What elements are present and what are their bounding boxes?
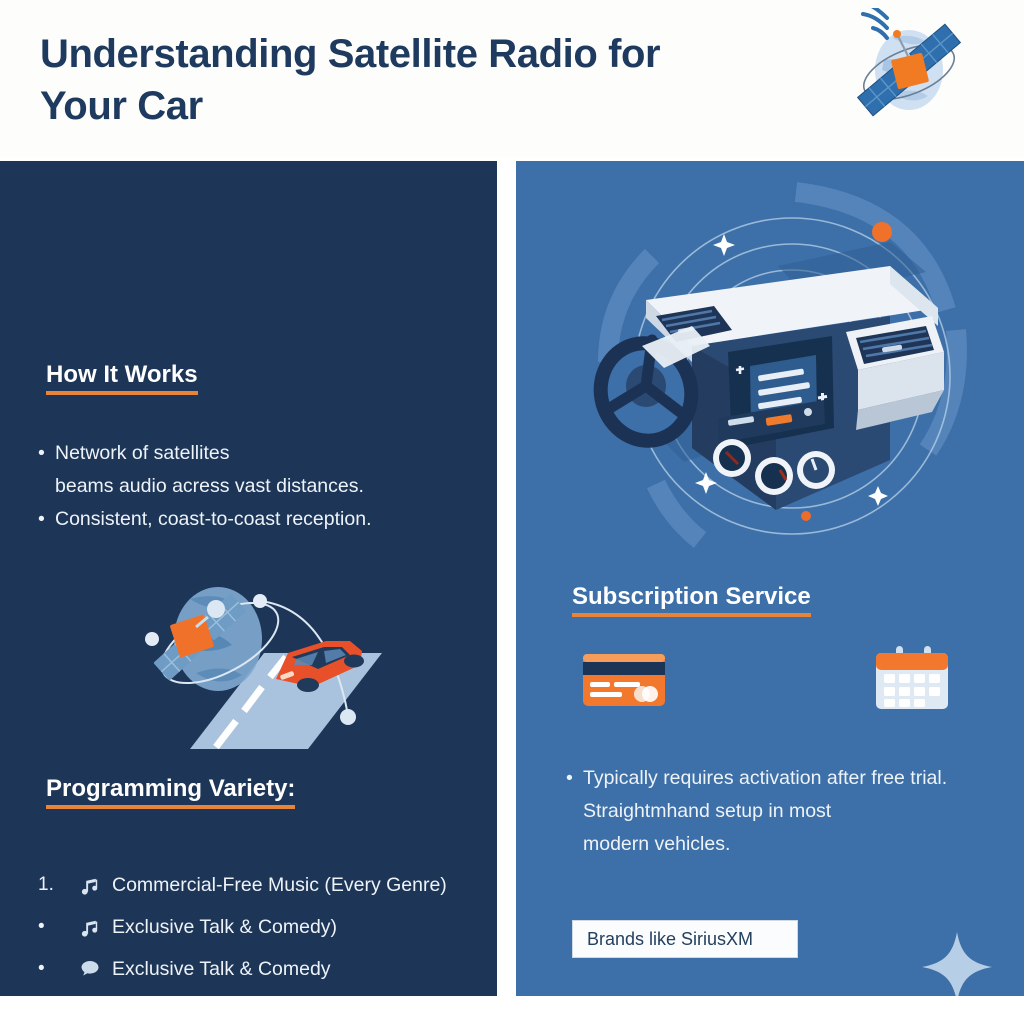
bullet-text: Consistent, coast-to-coast reception. bbox=[55, 503, 493, 536]
bullet-text: modern vehicles. bbox=[583, 828, 1016, 861]
brand-note-box: Brands like SiriusXM bbox=[572, 920, 798, 958]
bullet-text: Straightmhand setup in most bbox=[583, 795, 1016, 828]
car-dashboard-signal-illustration bbox=[560, 180, 1020, 560]
brand-note-label: Brands like SiriusXM bbox=[587, 929, 753, 950]
how-it-works-bullets: • Network of satellites beams audio acre… bbox=[38, 437, 493, 535]
list-item: Straightmhand setup in most bbox=[566, 795, 1016, 828]
page-title: Understanding Satellite Radio for Your C… bbox=[40, 28, 740, 132]
calendar-icon bbox=[872, 646, 952, 712]
bullet-text: Network of satellites bbox=[55, 437, 493, 470]
speech-bubble-icon bbox=[68, 957, 112, 981]
programming-variety-list: 1. Commercial-Free Music (Every Genre) •… bbox=[38, 864, 497, 996]
list-item-label: Commercial-Free Music (Every Genre) bbox=[112, 874, 447, 897]
list-item: beams audio acress vast distances. bbox=[38, 470, 493, 503]
list-item: 1. Commercial-Free Music (Every Genre) bbox=[38, 864, 497, 906]
right-panel: Subscription Service bbox=[516, 161, 1024, 996]
bullet-marker: • bbox=[38, 503, 55, 536]
heading-programming-variety-label: Programming Variety: bbox=[46, 775, 295, 802]
list-marker: • bbox=[38, 958, 68, 980]
bullet-text: Typically requires activation after free… bbox=[583, 762, 1016, 795]
satellite-globe-signal-icon bbox=[832, 8, 982, 138]
list-item: • Exclusive Talk & Comedy) bbox=[38, 906, 497, 948]
list-marker: 1. bbox=[38, 874, 68, 896]
satellite-globe-car-road-illustration bbox=[112, 561, 402, 751]
header-banner: Understanding Satellite Radio for Your C… bbox=[0, 0, 1024, 157]
heading-programming-variety: Programming Variety: bbox=[46, 775, 295, 809]
bullet-marker: • bbox=[38, 437, 55, 470]
heading-subscription-service: Subscription Service bbox=[572, 583, 811, 617]
list-item: • Typically requires activation after fr… bbox=[566, 762, 1016, 795]
music-note-icon bbox=[68, 874, 112, 897]
music-note-icon bbox=[68, 916, 112, 939]
list-item: • Network of satellites bbox=[38, 437, 493, 470]
bullet-text: beams audio acress vast distances. bbox=[55, 470, 493, 503]
list-item-label: Exclusive Talk & Comedy) bbox=[112, 916, 337, 939]
heading-underline bbox=[46, 805, 295, 809]
heading-how-it-works-label: How It Works bbox=[46, 361, 198, 388]
list-item: • Live Sports (Teams Leagues) bbox=[38, 990, 497, 996]
list-item: • Exclusive Talk & Comedy bbox=[38, 948, 497, 990]
subscription-bullets: • Typically requires activation after fr… bbox=[566, 762, 1016, 860]
heading-subscription-service-label: Subscription Service bbox=[572, 583, 811, 610]
bullet-marker: • bbox=[566, 762, 583, 795]
sparkle-icon bbox=[920, 930, 994, 996]
list-item-label: Exclusive Talk & Comedy bbox=[112, 958, 331, 981]
heading-how-it-works: How It Works bbox=[46, 361, 198, 395]
left-panel: How It Works • Network of satellites bea… bbox=[0, 161, 497, 996]
list-marker: • bbox=[38, 916, 68, 938]
heading-underline bbox=[572, 613, 811, 617]
heading-underline bbox=[46, 391, 198, 395]
credit-card-icon bbox=[582, 650, 666, 708]
list-item: • Consistent, coast-to-coast reception. bbox=[38, 503, 493, 536]
list-item: modern vehicles. bbox=[566, 828, 1016, 861]
